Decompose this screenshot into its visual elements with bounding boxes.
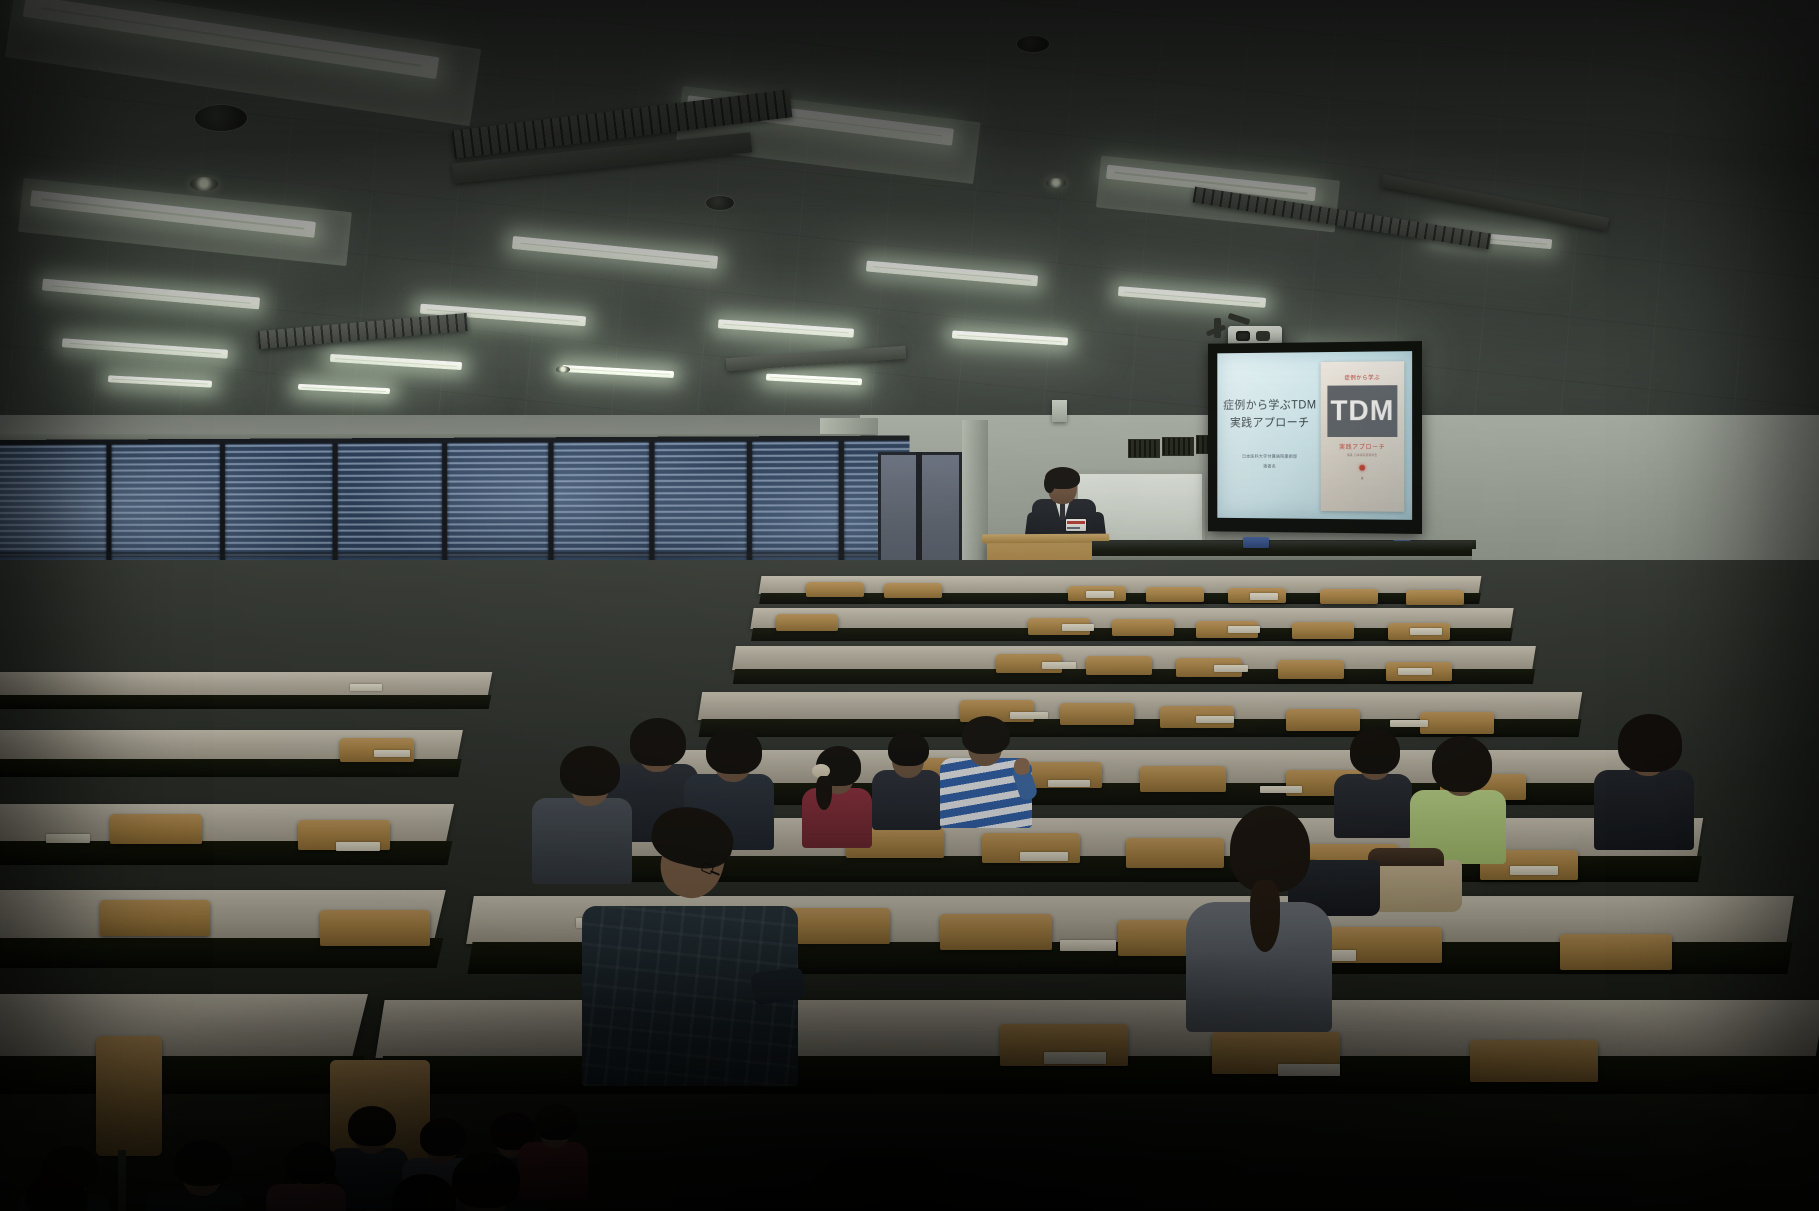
desk-nameplate — [1044, 1052, 1106, 1064]
desk — [0, 994, 368, 1058]
attendee-hair — [286, 1142, 336, 1184]
desk-nameplate — [374, 750, 410, 757]
desk-nameplate — [1086, 591, 1114, 598]
desk-object-blue[interactable] — [1243, 537, 1269, 548]
wall-speaker — [1052, 400, 1067, 422]
attendee-torso — [802, 788, 872, 848]
chair[interactable] — [884, 583, 942, 598]
chair[interactable] — [110, 814, 202, 844]
desk-nameplate — [1042, 662, 1076, 669]
chair[interactable] — [806, 582, 864, 597]
attendee-hair — [420, 1118, 466, 1156]
desk-nameplate — [1228, 626, 1260, 633]
chair[interactable] — [1470, 1040, 1598, 1082]
desk-nameplate — [350, 684, 382, 691]
lectern-top — [982, 534, 1109, 544]
attendee-hair — [348, 1106, 396, 1146]
chair[interactable] — [320, 910, 430, 946]
attendee-torso — [518, 1142, 588, 1200]
desk-nameplate — [1410, 628, 1442, 635]
desk-edge — [0, 695, 491, 709]
attendee-hair — [1350, 728, 1400, 774]
desk-nameplate — [1398, 668, 1432, 675]
chair[interactable] — [1060, 703, 1134, 725]
desk-nameplate — [1062, 624, 1094, 631]
attendee-hair — [792, 1146, 974, 1211]
desk-nameplate — [1048, 780, 1090, 787]
chair[interactable] — [1292, 622, 1354, 639]
chair[interactable] — [1112, 619, 1174, 636]
desk-nameplate — [1278, 1064, 1340, 1076]
attendee-hair — [534, 1104, 578, 1140]
ceiling-shading — [0, 0, 1819, 430]
ceiling — [0, 0, 1819, 430]
chair[interactable] — [1140, 766, 1226, 792]
chair[interactable] — [1420, 712, 1494, 734]
chair[interactable] — [1126, 838, 1224, 868]
chair[interactable] — [1086, 656, 1152, 675]
attendee-hair — [452, 1152, 520, 1208]
chair[interactable] — [1146, 587, 1204, 602]
desk — [0, 672, 492, 696]
desk-nameplate — [1196, 716, 1234, 723]
attendee-torso — [1594, 770, 1694, 850]
chair[interactable] — [1278, 660, 1344, 679]
desk-nameplate — [1260, 786, 1302, 793]
attendee-ponytail — [1250, 880, 1280, 952]
attendee-hair — [888, 732, 929, 766]
attendee-hair — [174, 1140, 232, 1186]
attendee-torso — [872, 770, 942, 830]
attendee-hand — [1014, 758, 1030, 775]
desk-nameplate — [1250, 593, 1278, 600]
chair[interactable] — [1320, 589, 1378, 604]
presenter-tie — [1060, 504, 1065, 520]
desk-nameplate — [1020, 852, 1068, 861]
desk-nameplate — [1010, 712, 1048, 719]
attendee-torso — [532, 798, 632, 884]
desk-nameplate — [336, 842, 380, 851]
desk-nameplate — [1060, 940, 1116, 951]
seating-area — [0, 560, 1819, 1211]
desk-nameplate — [1214, 665, 1248, 672]
projection-screen: 症例から学ぶTDM 実践アプローチ 日本医科大学付属病院薬剤部 演者名 症例から… — [1208, 341, 1422, 534]
chair[interactable] — [1560, 934, 1672, 970]
chair-leg — [118, 1150, 126, 1211]
chair[interactable] — [1286, 709, 1360, 731]
chair[interactable] — [100, 900, 210, 936]
attendee-hair — [1618, 714, 1682, 772]
chair[interactable] — [940, 914, 1052, 950]
attendee-hair — [1432, 736, 1492, 792]
presenter-name-badge — [1066, 519, 1086, 531]
window-rail — [0, 552, 910, 557]
desk-nameplate — [46, 834, 90, 843]
desk-nameplate — [1510, 866, 1558, 875]
screen-glare — [1217, 351, 1412, 520]
attendee-hair — [962, 716, 1010, 754]
front-ledge-dark — [1092, 541, 1472, 557]
attendee-hair — [630, 718, 686, 766]
chair[interactable] — [776, 614, 838, 631]
lecture-hall-photo: 症例から学ぶTDM 実践アプローチ 日本医科大学付属病院薬剤部 演者名 症例から… — [0, 0, 1819, 1211]
handbag[interactable] — [1372, 860, 1462, 912]
presenter-hair-side — [1044, 474, 1055, 493]
wall-vent — [1128, 439, 1160, 458]
attendee-hair — [560, 746, 620, 796]
desk-nameplate — [1390, 720, 1428, 727]
desk-edge — [0, 1056, 365, 1094]
chair[interactable] — [96, 1036, 162, 1156]
attendee-hair — [706, 728, 762, 774]
chair[interactable] — [1406, 590, 1464, 605]
attendee-torso — [1334, 774, 1412, 838]
screen-surface: 症例から学ぶTDM 実践アプローチ 日本医科大学付属病院薬剤部 演者名 症例から… — [1217, 351, 1412, 520]
wall-vent — [1162, 437, 1194, 456]
attendee-ponytail — [816, 776, 832, 810]
